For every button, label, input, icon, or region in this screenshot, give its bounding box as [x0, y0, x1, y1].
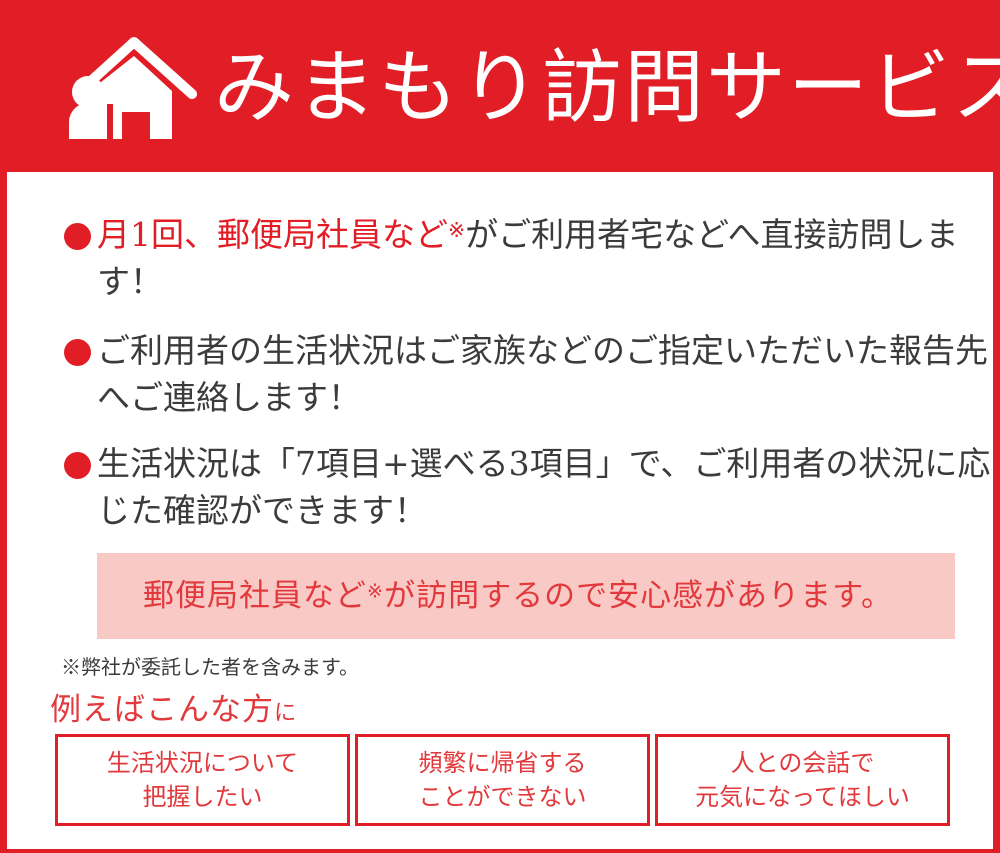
- example-box-1-line2: 把握したい: [143, 780, 263, 814]
- example-box-2-line1: 頻繁に帰省する: [419, 746, 587, 780]
- house-with-person-icon: [58, 34, 208, 144]
- highlight-banner: 郵便局社員など※が訪問するので安心感があります。: [97, 553, 955, 639]
- feature-bullet-list: 月1回、郵便局社員など※がご利用者宅などへ直接訪問します！ ご利用者の生活状況は…: [7, 172, 993, 535]
- example-box-1-line1: 生活状況について: [107, 746, 298, 780]
- example-box-2-line2: ことができない: [419, 780, 587, 814]
- highlight-text-container: 郵便局社員など※が訪問するので安心感があります。: [143, 581, 893, 612]
- highlight-text-before: 郵便局社員など: [143, 578, 367, 614]
- header-banner: みまもり訪問サービス: [0, 0, 1000, 172]
- footnote-text: ※弊社が委託した者を含みます。: [61, 655, 993, 679]
- example-heading-main: 例えばこんな方: [50, 692, 274, 728]
- example-box-3: 人との会話で 元気になってほしい: [655, 734, 950, 826]
- list-item: 月1回、郵便局社員など※がご利用者宅などへ直接訪問します！: [7, 212, 993, 306]
- list-item: ご利用者の生活状況はご家族などのご指定いただいた報告先へご連絡します！: [7, 328, 993, 422]
- bullet-1-red-text: 月1回、郵便局社員など: [97, 215, 448, 254]
- footnote-marker-icon: ※: [367, 579, 384, 602]
- page-title: みまもり訪問サービス: [214, 48, 1000, 128]
- example-box-3-line1: 人との会話で: [731, 746, 875, 780]
- list-item: 生活状況は「7項目+選べる3項目」で、ご利用者の状況に応じた確認ができます！: [7, 441, 993, 535]
- footnote-marker-icon: ※: [448, 218, 465, 242]
- example-section-heading: 例えばこんな方に: [50, 693, 993, 727]
- example-box-2: 頻繁に帰省する ことができない: [355, 734, 650, 826]
- card-body: 月1回、郵便局社員など※がご利用者宅などへ直接訪問します！ ご利用者の生活状況は…: [0, 172, 1000, 853]
- bullet-dot-icon: [64, 339, 91, 366]
- bullet-2-text: ご利用者の生活状況はご家族などのご指定いただいた報告先へご連絡します！: [97, 328, 993, 422]
- bullet-dot-icon: [64, 452, 91, 479]
- example-box-1: 生活状況について 把握したい: [55, 734, 350, 826]
- bullet-dot-icon: [64, 223, 91, 250]
- service-info-card: みまもり訪問サービス 月1回、郵便局社員など※がご利用者宅などへ直接訪問します！…: [0, 0, 1000, 853]
- example-heading-suffix: に: [274, 700, 297, 726]
- example-box-3-line2: 元気になってほしい: [695, 780, 910, 814]
- example-box-row: 生活状況について 把握したい 頻繁に帰省する ことができない 人との会話で 元気…: [55, 734, 950, 826]
- highlight-text-after: が訪問するので安心感があります。: [384, 578, 893, 614]
- bullet-3-text: 生活状況は「7項目+選べる3項目」で、ご利用者の状況に応じた確認ができます！: [97, 441, 993, 535]
